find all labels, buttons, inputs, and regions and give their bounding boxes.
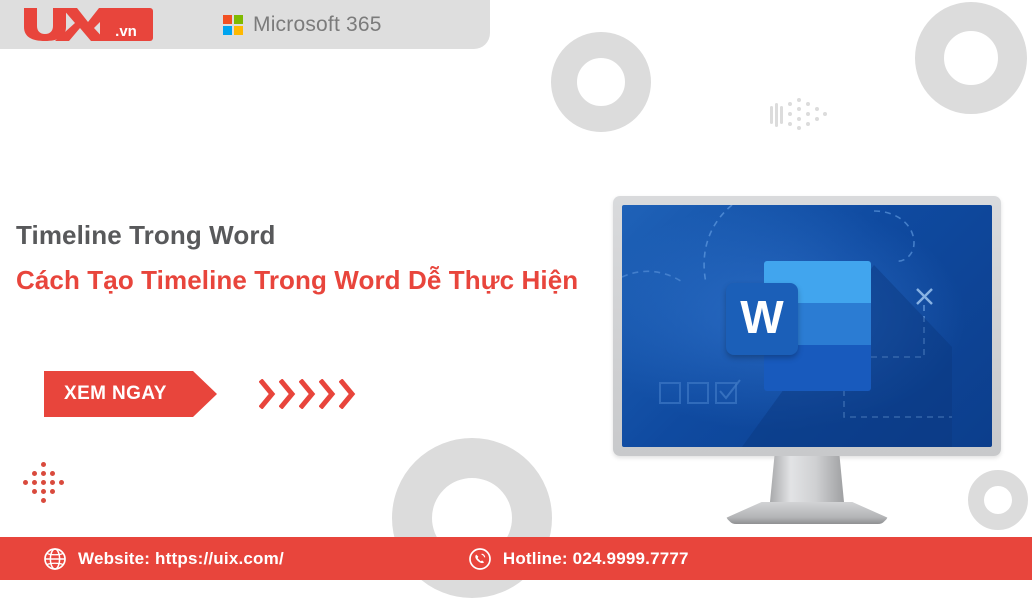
microsoft-365-label: Microsoft 365 — [253, 13, 382, 37]
word-logo-letter: W — [740, 294, 783, 340]
dot-cluster-gray — [770, 98, 828, 132]
microsoft-squares-icon — [223, 15, 243, 35]
footer-hotline-label: Hotline: 024.9999.7777 — [503, 549, 689, 569]
footer-website[interactable]: Website: https://uix.com/ — [43, 547, 284, 571]
chevron-right-icon — [259, 379, 277, 409]
chevron-right-icon — [279, 379, 297, 409]
footer-hotline[interactable]: Hotline: 024.9999.7777 — [468, 547, 689, 571]
footer-bar: Website: https://uix.com/ Hotline: 024.9… — [0, 537, 1032, 580]
ux-vn-logo[interactable]: .vn — [22, 8, 155, 42]
monitor-screen: W — [622, 205, 992, 447]
word-app-logo: W — [726, 261, 871, 391]
phone-icon — [468, 547, 492, 571]
cta-row: XEM NGAY — [44, 371, 357, 417]
imac-monitor-illustration: W — [613, 196, 1001, 524]
globe-icon — [43, 547, 67, 571]
headline-eyebrow: Timeline Trong Word — [16, 220, 578, 251]
ring-top-center — [551, 32, 651, 132]
xem-ngay-button[interactable]: XEM NGAY — [44, 371, 193, 417]
svg-text:.vn: .vn — [115, 23, 137, 40]
chevron-right-icon — [299, 379, 317, 409]
chevron-right-icon — [319, 379, 337, 409]
footer-website-label: Website: https://uix.com/ — [78, 549, 284, 569]
word-logo-tile: W — [726, 283, 798, 355]
microsoft-365-logo[interactable]: Microsoft 365 — [223, 13, 382, 37]
chevron-arrows — [259, 379, 357, 409]
ring-top-right — [915, 2, 1027, 114]
monitor-bezel: W — [613, 196, 1001, 456]
dot-diamond-red — [20, 462, 68, 504]
headline-block: Timeline Trong Word Cách Tạo Timeline Tr… — [16, 220, 578, 296]
monitor-stand-base — [726, 502, 888, 524]
page-title: Cách Tạo Timeline Trong Word Dễ Thực Hiệ… — [16, 265, 578, 296]
monitor-stand-neck — [770, 456, 844, 502]
header-bar: .vn Microsoft 365 — [0, 0, 490, 49]
ux-vn-logo-mark: .vn — [22, 6, 155, 42]
chevron-right-icon — [339, 379, 357, 409]
